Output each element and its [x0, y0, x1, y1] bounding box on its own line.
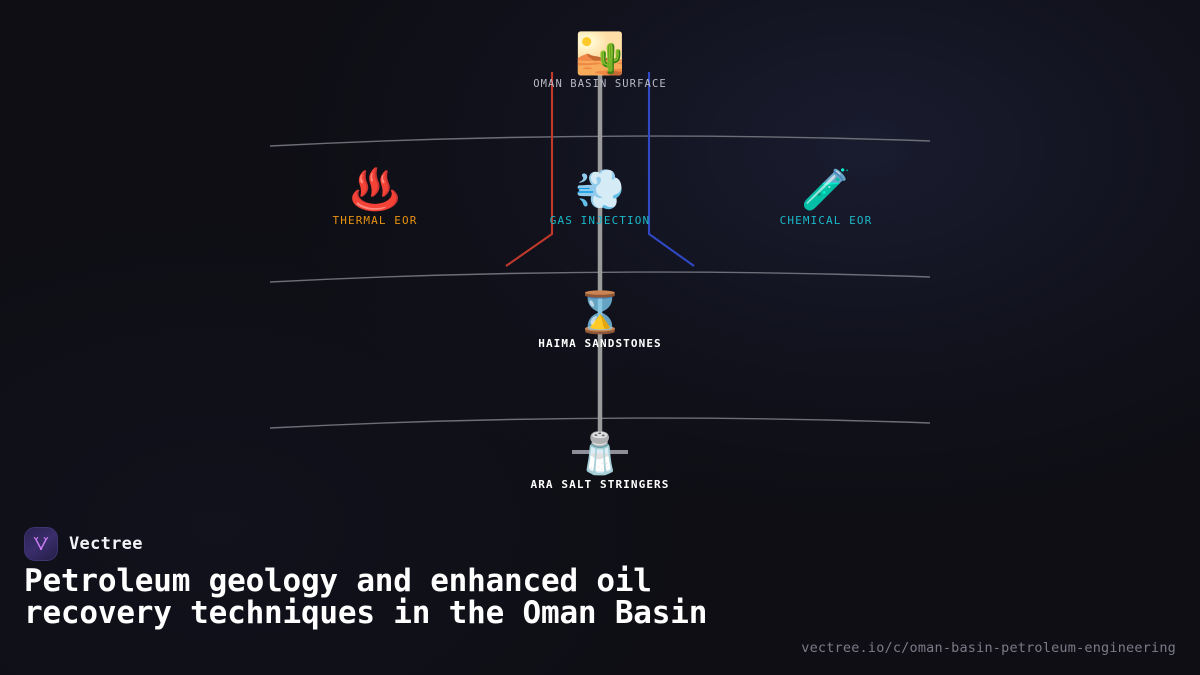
node-chemical-eor[interactable]: 🧪 CHEMICAL EOR: [780, 168, 873, 227]
footer: Vectree Petroleum geology and enhanced o…: [0, 515, 1200, 675]
node-gas-injection[interactable]: 💨 GAS INJECTION: [550, 168, 650, 227]
node-oman-basin-surface[interactable]: 🏜️ OMAN BASIN SURFACE: [533, 32, 667, 90]
node-label: GAS INJECTION: [550, 214, 650, 227]
node-ara-salt-stringers[interactable]: 🧂 ARA SALT STRINGERS: [530, 432, 669, 491]
thermal-branch-line: [506, 72, 552, 266]
test-tube-icon: 🧪: [780, 168, 873, 212]
node-label: OMAN BASIN SURFACE: [533, 78, 667, 90]
node-label: THERMAL EOR: [333, 214, 418, 227]
dashing-away-icon: 💨: [550, 168, 650, 212]
node-label: CHEMICAL EOR: [780, 214, 873, 227]
brand-row[interactable]: Vectree: [24, 527, 143, 561]
page-title: Petroleum geology and enhanced oil recov…: [24, 565, 794, 629]
node-label: HAIMA SANDSTONES: [538, 337, 662, 350]
node-haima-sandstones[interactable]: ⌛ HAIMA SANDSTONES: [538, 291, 662, 350]
chemical-branch-line: [649, 72, 694, 266]
vectree-logo-icon: [24, 527, 58, 561]
footer-url: vectree.io/c/oman-basin-petroleum-engine…: [801, 640, 1176, 656]
hourglass-icon: ⌛: [538, 291, 662, 335]
brand-name: Vectree: [69, 534, 143, 554]
desert-icon: 🏜️: [533, 32, 667, 76]
salt-shaker-icon: 🧂: [530, 432, 669, 476]
vectree-mark: [31, 534, 51, 554]
node-label: ARA SALT STRINGERS: [530, 478, 669, 491]
hot-springs-icon: ♨️: [333, 168, 418, 212]
node-thermal-eor[interactable]: ♨️ THERMAL EOR: [333, 168, 418, 227]
